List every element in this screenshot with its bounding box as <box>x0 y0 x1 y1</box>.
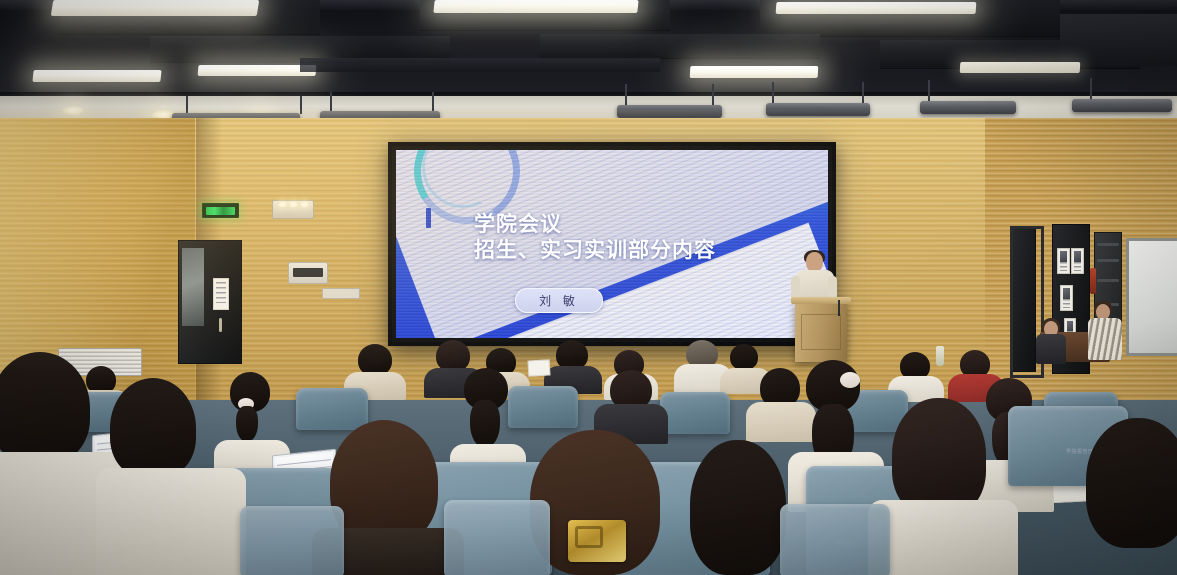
presenter-head <box>806 252 823 272</box>
audience-shoulders-foreground <box>868 500 1018 575</box>
emergency-light <box>272 200 314 219</box>
wall-poster <box>1071 248 1084 274</box>
podium-panel <box>801 314 841 350</box>
ponytail <box>470 400 500 448</box>
door-glass-left <box>182 248 204 326</box>
hair-scrunchie <box>840 372 860 388</box>
whiteboard <box>1126 238 1177 356</box>
door-handle-left[interactable] <box>219 318 222 332</box>
water-bottle <box>936 346 944 366</box>
audience-head-foreground <box>110 378 196 478</box>
audience-shoulders <box>746 402 816 442</box>
auditorium-seat-arm <box>444 500 550 575</box>
gold-hair-clip <box>568 520 626 562</box>
slide-title: 学院会议 <box>474 212 716 237</box>
presenter-name: 刘 敏 <box>539 292 579 309</box>
projection-screen: 学院会议 招生、实习实训部分内容 刘 敏 <box>388 142 836 346</box>
ceiling-light <box>51 0 260 16</box>
staff-body <box>1088 318 1122 360</box>
wall-sign <box>322 288 360 299</box>
audience-head-foreground <box>330 420 438 544</box>
handout-paper <box>528 359 551 376</box>
door-notice-left <box>213 278 229 310</box>
audience-head-foreground <box>690 440 786 575</box>
staff-body <box>1036 334 1066 364</box>
ponytail <box>236 406 258 442</box>
audience-head-foreground <box>1086 418 1177 548</box>
ceiling-light <box>198 65 317 76</box>
seated-staff-right <box>1086 300 1126 362</box>
downlight <box>62 106 84 115</box>
ceiling-light <box>433 0 638 13</box>
ceiling-light <box>32 70 161 82</box>
lecture-hall-photo: 学院会议 招生、实习实训部分内容 刘 敏 <box>0 0 1177 575</box>
audience-shoulders-foreground <box>96 468 246 575</box>
ceiling-air-curtain <box>920 101 1016 114</box>
ceiling-air-curtain <box>1072 99 1172 112</box>
auditorium-seat <box>660 392 730 434</box>
auditorium-seat-arm <box>240 506 344 575</box>
podium-top <box>791 297 851 304</box>
slide-subtitle: 招生、实习实训部分内容 <box>474 237 716 263</box>
seated-staff-right-2 <box>1036 318 1070 364</box>
ceiling-light <box>690 66 819 78</box>
audience-head <box>730 344 758 370</box>
audience-head-foreground <box>892 398 986 516</box>
auditorium-seat <box>508 386 578 428</box>
auditorium-seat-arm <box>780 504 890 575</box>
ceiling-air-curtain <box>617 105 722 118</box>
audience-head-foreground <box>0 352 90 464</box>
microphone-stand <box>838 300 840 316</box>
wall-poster <box>1060 285 1073 311</box>
presenter-name-pill: 刘 敏 <box>515 288 603 313</box>
ceiling-light <box>960 62 1081 73</box>
wall-poster <box>1057 248 1070 274</box>
auditorium-seat <box>296 388 368 430</box>
ceiling-light <box>776 2 977 14</box>
presentation-slide: 学院会议 招生、实习实训部分内容 刘 敏 <box>396 150 828 338</box>
slide-text-block: 学院会议 招生、实习实训部分内容 <box>474 212 716 263</box>
wall-av-panel <box>288 262 328 284</box>
emergency-exit-sign <box>202 203 239 218</box>
ceiling-air-curtain <box>766 103 870 116</box>
fire-equipment <box>1090 268 1096 294</box>
slide-accent-bar <box>426 208 431 228</box>
